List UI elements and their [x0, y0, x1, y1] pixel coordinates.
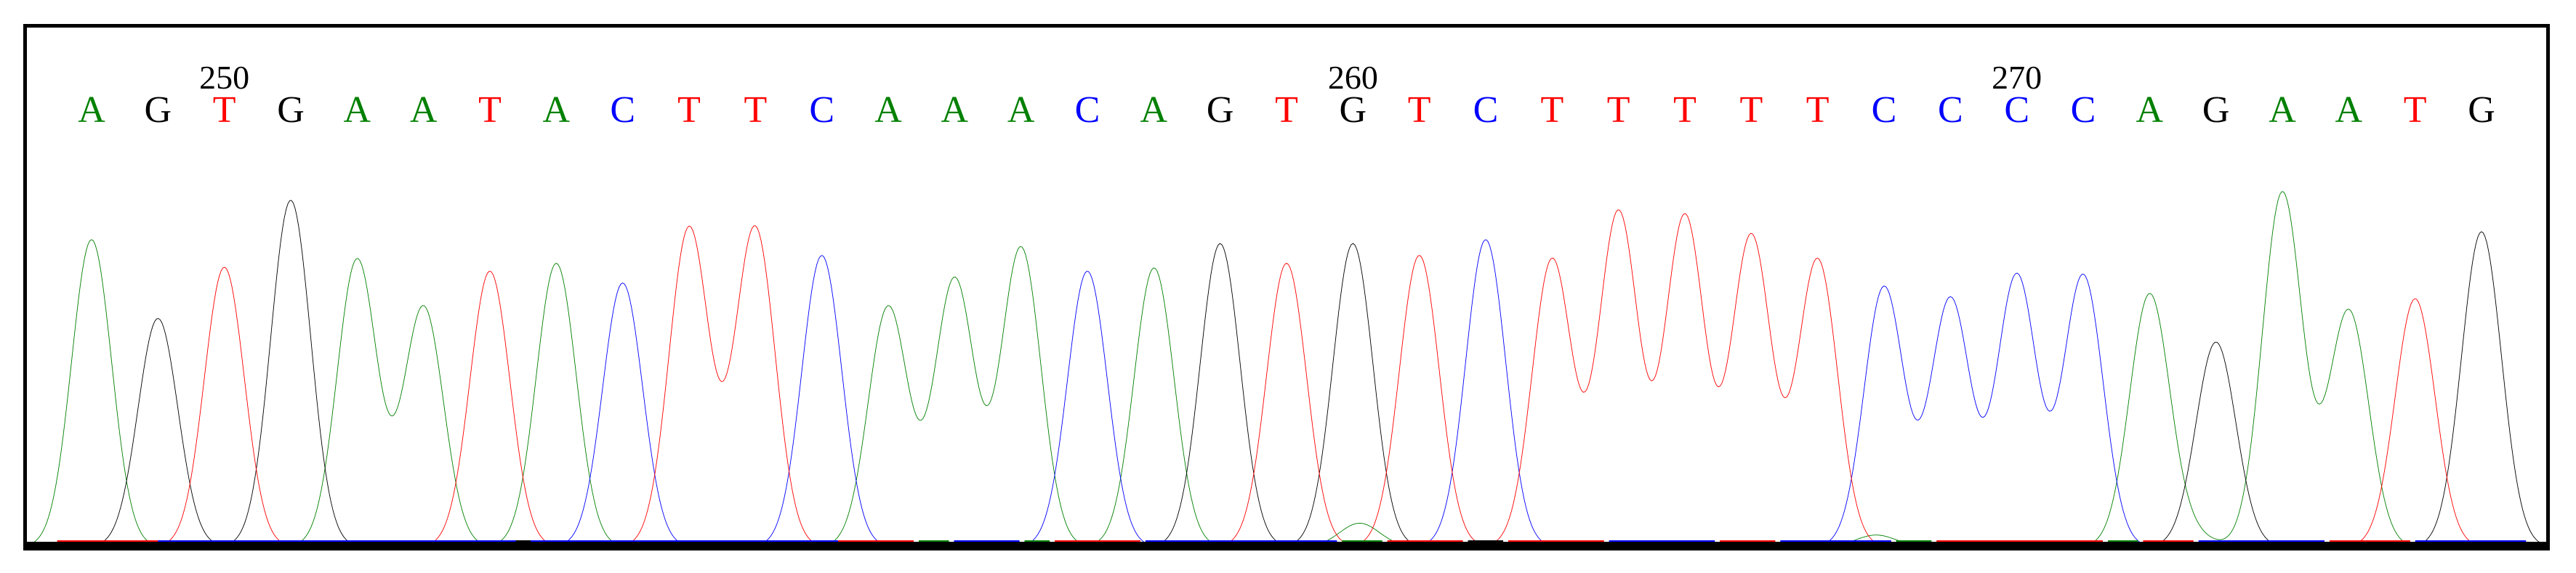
- base-letter: T: [744, 92, 767, 129]
- base-letter: G: [145, 92, 172, 129]
- base-letter: C: [1938, 92, 1963, 129]
- base-letter: T: [1673, 92, 1696, 129]
- base-letter: G: [2468, 92, 2495, 129]
- base-letter: T: [1408, 92, 1431, 129]
- trace-curve-G: [27, 200, 2546, 547]
- base-letter: A: [543, 92, 571, 129]
- base-letter: G: [277, 92, 305, 129]
- base-letter: A: [78, 92, 105, 129]
- base-letter: C: [1473, 92, 1499, 129]
- base-letter: C: [2071, 92, 2096, 129]
- base-letter: A: [2269, 92, 2296, 129]
- position-ruler: 250260270: [27, 28, 2546, 94]
- base-letter: C: [610, 92, 635, 129]
- base-letter: A: [1140, 92, 1168, 129]
- trace-curve-A: [27, 192, 2546, 547]
- base-letter: A: [874, 92, 902, 129]
- base-letter: C: [809, 92, 834, 129]
- base-letter: A: [1007, 92, 1035, 129]
- base-letter: A: [2335, 92, 2363, 129]
- trace-curve-C: [27, 240, 2546, 547]
- base-letter: C: [1075, 92, 1100, 129]
- chromatogram-panel: 250260270 AGTGAATACTTCAAACAGTGTCTTTTTCCC…: [23, 24, 2550, 550]
- base-letter: T: [1607, 92, 1630, 129]
- base-letter: T: [478, 92, 502, 129]
- base-letter: A: [344, 92, 371, 129]
- base-letter: G: [1340, 92, 1367, 129]
- base-letter: G: [1207, 92, 1234, 129]
- base-letter: T: [677, 92, 701, 129]
- trace-plot-area: [27, 137, 2546, 547]
- base-letter: A: [941, 92, 969, 129]
- base-letter: C: [1872, 92, 1897, 129]
- base-letter: A: [2136, 92, 2164, 129]
- base-letter: G: [2202, 92, 2230, 129]
- base-letter: T: [1739, 92, 1763, 129]
- base-letter: A: [410, 92, 438, 129]
- basecall-sequence-row: AGTGAATACTTCAAACAGTGTCTTTTTCCCCAGAATG: [27, 92, 2546, 137]
- trace-svg: [27, 137, 2546, 547]
- base-letter: T: [213, 92, 236, 129]
- base-letter: T: [1275, 92, 1298, 129]
- baseline-axis: [27, 542, 2546, 547]
- base-letter: T: [1806, 92, 1830, 129]
- base-letter: T: [1540, 92, 1563, 129]
- base-letter: T: [2404, 92, 2427, 129]
- base-letter: C: [2004, 92, 2029, 129]
